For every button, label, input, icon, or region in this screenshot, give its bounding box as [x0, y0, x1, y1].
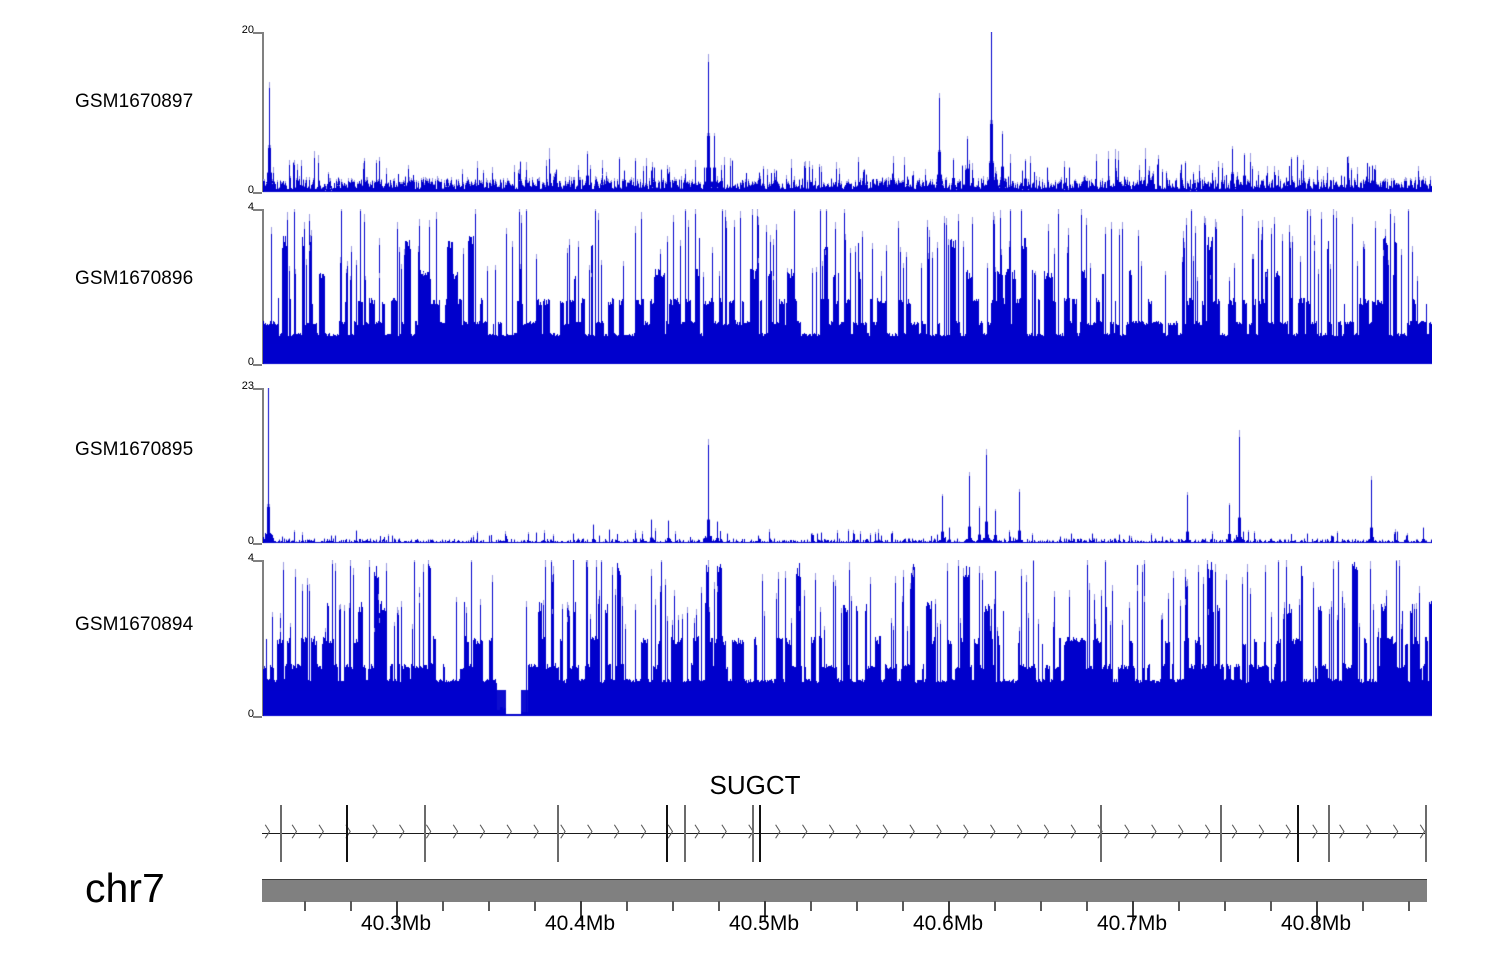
- gene-exon: [557, 805, 559, 862]
- strand-arrow-icon: 〉: [640, 825, 655, 840]
- track-y-tick-min: [253, 543, 262, 545]
- axis-minor-tick: [1040, 901, 1042, 911]
- strand-arrow-icon: 〉: [1231, 825, 1246, 840]
- strand-arrow-icon: 〉: [1124, 825, 1139, 840]
- gene-name-label: SUGCT: [710, 770, 801, 801]
- axis-tick-label: 40.3Mb: [361, 912, 431, 936]
- gene-exon: [1220, 805, 1222, 862]
- strand-arrow-icon: 〉: [479, 825, 494, 840]
- axis-tick-label: 40.4Mb: [545, 912, 615, 936]
- gene-exon: [752, 805, 754, 862]
- strand-arrow-icon: 〉: [533, 825, 548, 840]
- strand-arrow-icon: 〉: [1043, 825, 1058, 840]
- track-y-tick-min: [253, 192, 262, 194]
- axis-minor-tick: [442, 901, 444, 911]
- gene-exon: [1425, 805, 1427, 862]
- axis-minor-tick: [1408, 901, 1410, 911]
- axis-minor-tick: [994, 901, 996, 911]
- strand-arrow-icon: 〉: [1097, 825, 1112, 840]
- strand-arrow-icon: 〉: [694, 825, 709, 840]
- axis-minor-tick: [810, 901, 812, 911]
- coverage-plot: [263, 209, 1432, 366]
- track-label: GSM1670894: [75, 614, 193, 636]
- axis-minor-tick: [350, 901, 352, 911]
- axis-minor-tick: [902, 901, 904, 911]
- strand-arrow-icon: 〉: [1070, 825, 1085, 840]
- axis-tick-label: 40.8Mb: [1281, 912, 1351, 936]
- strand-arrow-icon: 〉: [1365, 825, 1380, 840]
- strand-arrow-icon: 〉: [264, 825, 279, 840]
- strand-arrow-icon: 〉: [318, 825, 333, 840]
- track-label: GSM1670896: [75, 268, 193, 290]
- strand-arrow-icon: 〉: [936, 825, 951, 840]
- gene-exon: [280, 805, 282, 862]
- track-axis-min-label: 0: [214, 708, 254, 720]
- strand-arrow-icon: 〉: [452, 825, 467, 840]
- track-y-tick-max: [253, 388, 262, 390]
- axis-minor-tick: [488, 901, 490, 911]
- track-axis-max-label: 4: [214, 201, 254, 213]
- chromosome-bar: [262, 879, 1427, 902]
- axis-tick-label: 40.5Mb: [729, 912, 799, 936]
- strand-arrow-icon: 〉: [882, 825, 897, 840]
- strand-arrow-icon: 〉: [962, 825, 977, 840]
- strand-arrow-icon: 〉: [291, 825, 306, 840]
- gene-exon: [424, 805, 426, 862]
- strand-arrow-icon: 〉: [855, 825, 870, 840]
- track-axis-min-label: 0: [214, 535, 254, 547]
- strand-arrow-icon: 〉: [1392, 825, 1407, 840]
- strand-arrow-icon: 〉: [989, 825, 1004, 840]
- axis-minor-tick: [718, 901, 720, 911]
- coverage-plot: [263, 560, 1432, 718]
- axis-minor-tick: [672, 901, 674, 911]
- coverage-plot: [263, 32, 1432, 194]
- gene-exon: [1100, 805, 1102, 862]
- strand-arrow-icon: 〉: [1338, 825, 1353, 840]
- strand-arrow-icon: 〉: [1258, 825, 1273, 840]
- gene-exon: [1328, 805, 1330, 862]
- coverage-plot: [263, 388, 1432, 545]
- track-y-tick-min: [253, 364, 262, 366]
- axis-minor-tick: [1178, 901, 1180, 911]
- axis-minor-tick: [1224, 901, 1226, 911]
- axis-minor-tick: [1086, 901, 1088, 911]
- strand-arrow-icon: 〉: [1312, 825, 1327, 840]
- track-axis-max-label: 4: [214, 552, 254, 564]
- gene-exon: [759, 805, 761, 862]
- axis-minor-tick: [304, 901, 306, 911]
- axis-minor-tick: [1270, 901, 1272, 911]
- strand-arrow-icon: 〉: [774, 825, 789, 840]
- gene-exon: [666, 805, 668, 862]
- genome-browser-view: GSM1670897 20 0 GSM1670896 4 0 GSM167089…: [0, 0, 1500, 980]
- axis-minor-tick: [534, 901, 536, 911]
- strand-arrow-icon: 〉: [398, 825, 413, 840]
- track-y-tick-max: [253, 209, 262, 211]
- strand-arrow-icon: 〉: [1016, 825, 1031, 840]
- strand-arrow-icon: 〉: [828, 825, 843, 840]
- axis-minor-tick: [856, 901, 858, 911]
- gene-exon: [684, 805, 686, 862]
- track-axis-min-label: 0: [214, 184, 254, 196]
- strand-arrow-icon: 〉: [1204, 825, 1219, 840]
- strand-arrow-icon: 〉: [371, 825, 386, 840]
- axis-minor-tick: [626, 901, 628, 911]
- track-y-tick-max: [253, 560, 262, 562]
- strand-arrow-icon: 〉: [613, 825, 628, 840]
- track-axis-min-label: 0: [214, 356, 254, 368]
- strand-arrow-icon: 〉: [721, 825, 736, 840]
- chromosome-label: chr7: [85, 865, 165, 912]
- strand-arrow-icon: 〉: [667, 825, 682, 840]
- track-y-tick-max: [253, 32, 262, 34]
- strand-arrow-icon: 〉: [559, 825, 574, 840]
- track-y-tick-min: [253, 716, 262, 718]
- track-axis-max-label: 23: [214, 380, 254, 392]
- gene-exon: [1297, 805, 1299, 862]
- track-label: GSM1670895: [75, 439, 193, 461]
- strand-arrow-icon: 〉: [1177, 825, 1192, 840]
- strand-arrow-icon: 〉: [506, 825, 521, 840]
- strand-arrow-icon: 〉: [801, 825, 816, 840]
- track-axis-max-label: 20: [214, 24, 254, 36]
- axis-tick-label: 40.6Mb: [913, 912, 983, 936]
- gene-exon: [346, 805, 348, 862]
- track-label: GSM1670897: [75, 91, 193, 113]
- strand-arrow-icon: 〉: [1150, 825, 1165, 840]
- axis-minor-tick: [1362, 901, 1364, 911]
- strand-arrow-icon: 〉: [586, 825, 601, 840]
- strand-arrow-icon: 〉: [425, 825, 440, 840]
- strand-arrow-icon: 〉: [909, 825, 924, 840]
- axis-tick-label: 40.7Mb: [1097, 912, 1167, 936]
